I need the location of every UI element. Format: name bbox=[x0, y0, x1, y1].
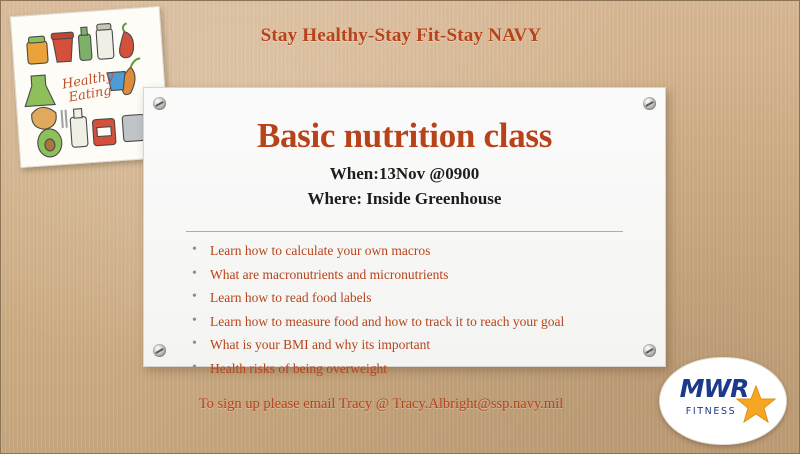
list-item: Learn how to read food labels bbox=[188, 290, 643, 305]
event-where: Where: Inside Greenhouse bbox=[144, 189, 665, 209]
list-item: Health risks of being overweight bbox=[188, 361, 643, 376]
screw-icon bbox=[153, 97, 166, 110]
screw-icon bbox=[153, 344, 166, 357]
topics-list: Learn how to calculate your own macros W… bbox=[188, 243, 643, 384]
content-board: Basic nutrition class When:13Nov @0900 W… bbox=[143, 87, 666, 367]
event-title: Basic nutrition class bbox=[144, 116, 665, 156]
mwr-fitness-logo: MWR FITNESS bbox=[659, 357, 787, 445]
poster-canvas: Stay Healthy-Stay Fit-Stay NAVY bbox=[0, 0, 800, 454]
list-item: Learn how to measure food and how to tra… bbox=[188, 314, 643, 329]
list-item: What is your BMI and why its important bbox=[188, 337, 643, 352]
star-icon bbox=[736, 384, 776, 426]
event-when: When:13Nov @0900 bbox=[144, 164, 665, 184]
divider bbox=[186, 231, 623, 232]
signup-contact: To sign up please email Tracy @ Tracy.Al… bbox=[141, 396, 621, 413]
screw-icon bbox=[643, 344, 656, 357]
screw-icon bbox=[643, 97, 656, 110]
list-item: Learn how to calculate your own macros bbox=[188, 243, 643, 258]
list-item: What are macronutrients and micronutrien… bbox=[188, 267, 643, 282]
